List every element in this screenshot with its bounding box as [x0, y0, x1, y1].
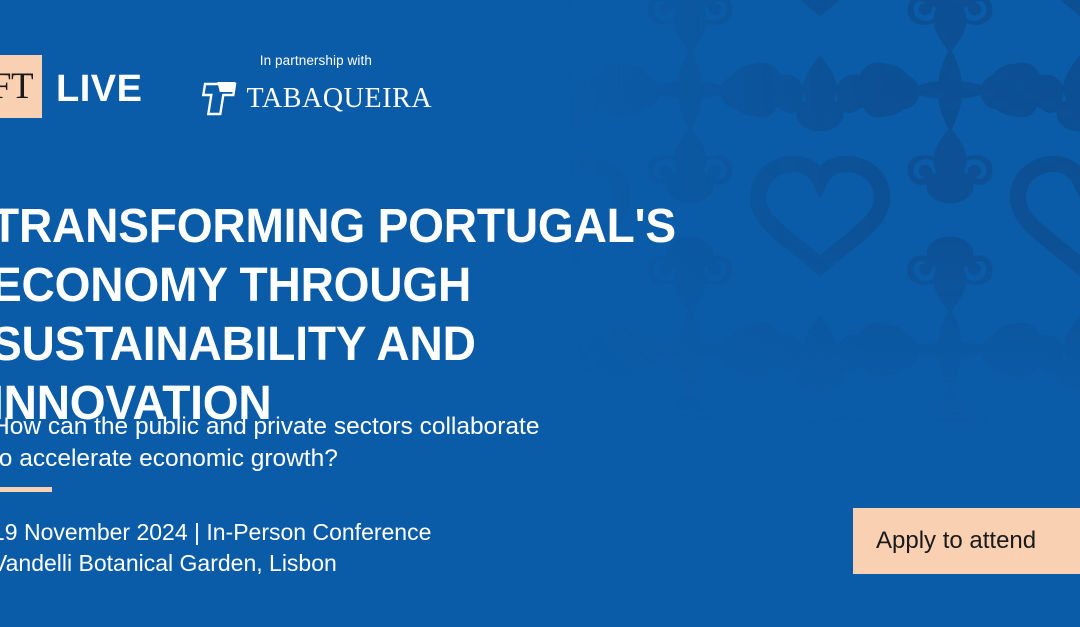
- live-label: LIVE: [56, 70, 142, 108]
- headline-line-2: ECONOMY THROUGH: [0, 256, 797, 315]
- event-date-format: 19 November 2024 | In-Person Conference: [0, 517, 431, 548]
- tabaqueira-wordmark: TABAQUEIRA: [246, 85, 432, 113]
- subtitle-line-2: to accelerate economic growth?: [0, 443, 692, 475]
- event-subtitle: How can the public and private sectors c…: [0, 411, 692, 475]
- event-promo-banner: FT LIVE In partnership with TABAQUEIRA T…: [0, 0, 1080, 627]
- headline-line-3: SUSTAINABILITY AND: [0, 315, 797, 374]
- event-headline: TRANSFORMING PORTUGAL'S ECONOMY THROUGH …: [0, 197, 797, 433]
- headline-line-1: TRANSFORMING PORTUGAL'S: [0, 197, 797, 256]
- partnership-kicker: In partnership with: [260, 53, 372, 68]
- accent-divider: [0, 487, 52, 492]
- tabaqueira-logo[interactable]: TABAQUEIRA: [199, 78, 432, 118]
- tabaqueira-t-icon: [199, 78, 239, 118]
- event-details: 19 November 2024 | In-Person Conference …: [0, 517, 431, 579]
- event-venue: Vandelli Botanical Garden, Lisbon: [0, 548, 431, 579]
- banner-header: FT LIVE In partnership with TABAQUEIRA: [0, 33, 432, 118]
- apply-to-attend-button[interactable]: Apply to attend: [853, 508, 1080, 574]
- ft-live-logo[interactable]: FT LIVE: [0, 55, 142, 118]
- partnership-block: In partnership with TABAQUEIRA: [199, 53, 432, 118]
- ft-logo-text: FT: [0, 68, 33, 105]
- ft-logo-mark: FT: [0, 55, 42, 118]
- subtitle-line-1: How can the public and private sectors c…: [0, 411, 692, 443]
